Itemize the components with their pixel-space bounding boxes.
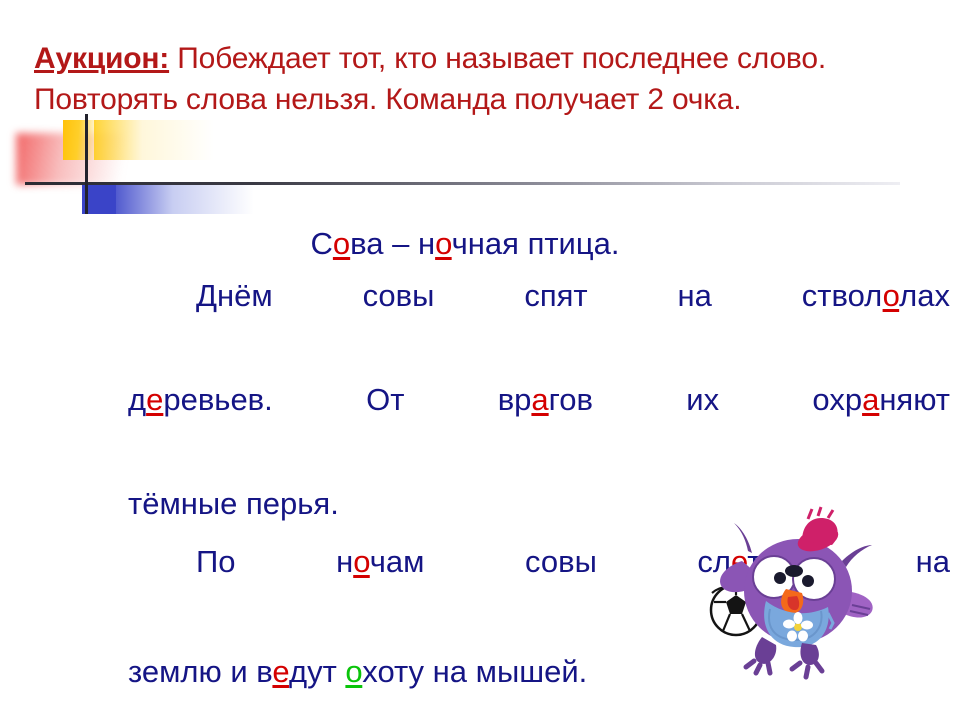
stressed-vowel: о [435, 226, 452, 261]
text-run: гов их охр [549, 382, 862, 417]
text-run: По н [196, 544, 353, 579]
text-run: ревьев. От вр [163, 382, 531, 417]
text-run: Днём совы спят на ствол [196, 278, 883, 313]
text-run: тёмные перья. [128, 486, 339, 521]
stressed-vowel: е [146, 382, 163, 417]
stressed-vowel: о [333, 226, 350, 261]
slide-heading: Аукцион: Побеждает тот, кто называет пос… [34, 38, 934, 120]
text-run: лах [899, 278, 950, 313]
stressed-vowel: о [345, 654, 362, 689]
text-run: дут [289, 654, 345, 689]
stressed-vowel: а [531, 382, 548, 417]
text-run: ва – н [350, 226, 435, 261]
text-run: няют [879, 382, 950, 417]
text-run: С [311, 226, 333, 261]
stressed-vowel: а [862, 382, 879, 417]
text-run: землю и в [128, 654, 272, 689]
sentence-paragraph-2-line2: деревьев. От врагов их охраняют [128, 374, 950, 478]
decor-vertical-rule [85, 114, 88, 214]
owl-clipart [690, 505, 960, 685]
sentence-paragraph-1: Сова – ночная птица. [160, 218, 770, 270]
stressed-vowel: о [883, 278, 900, 313]
decor-yellow-block [63, 120, 96, 160]
decor-pink-gradient [16, 133, 136, 185]
decor-horizontal-rule [25, 182, 900, 185]
decor-blue-fade [114, 184, 254, 214]
decor-blue-block [82, 184, 116, 214]
sentence-paragraph-2: Днём совы спят на ствололах [128, 270, 950, 374]
heading-keyword: Аукцион: [34, 42, 169, 75]
text-run: чная птица. [452, 226, 620, 261]
text-run: хоту на мышей. [362, 654, 587, 689]
stressed-vowel: о [353, 544, 370, 579]
slide-canvas: Аукцион: Побеждает тот, кто называет пос… [0, 0, 960, 720]
text-run: д [128, 382, 146, 417]
owl-and-ball-illustration [690, 505, 960, 685]
stressed-vowel: е [272, 654, 289, 689]
decor-yellow-fade [94, 120, 214, 160]
owl-hat [795, 507, 842, 556]
text-run: чам совы сл [370, 544, 731, 579]
